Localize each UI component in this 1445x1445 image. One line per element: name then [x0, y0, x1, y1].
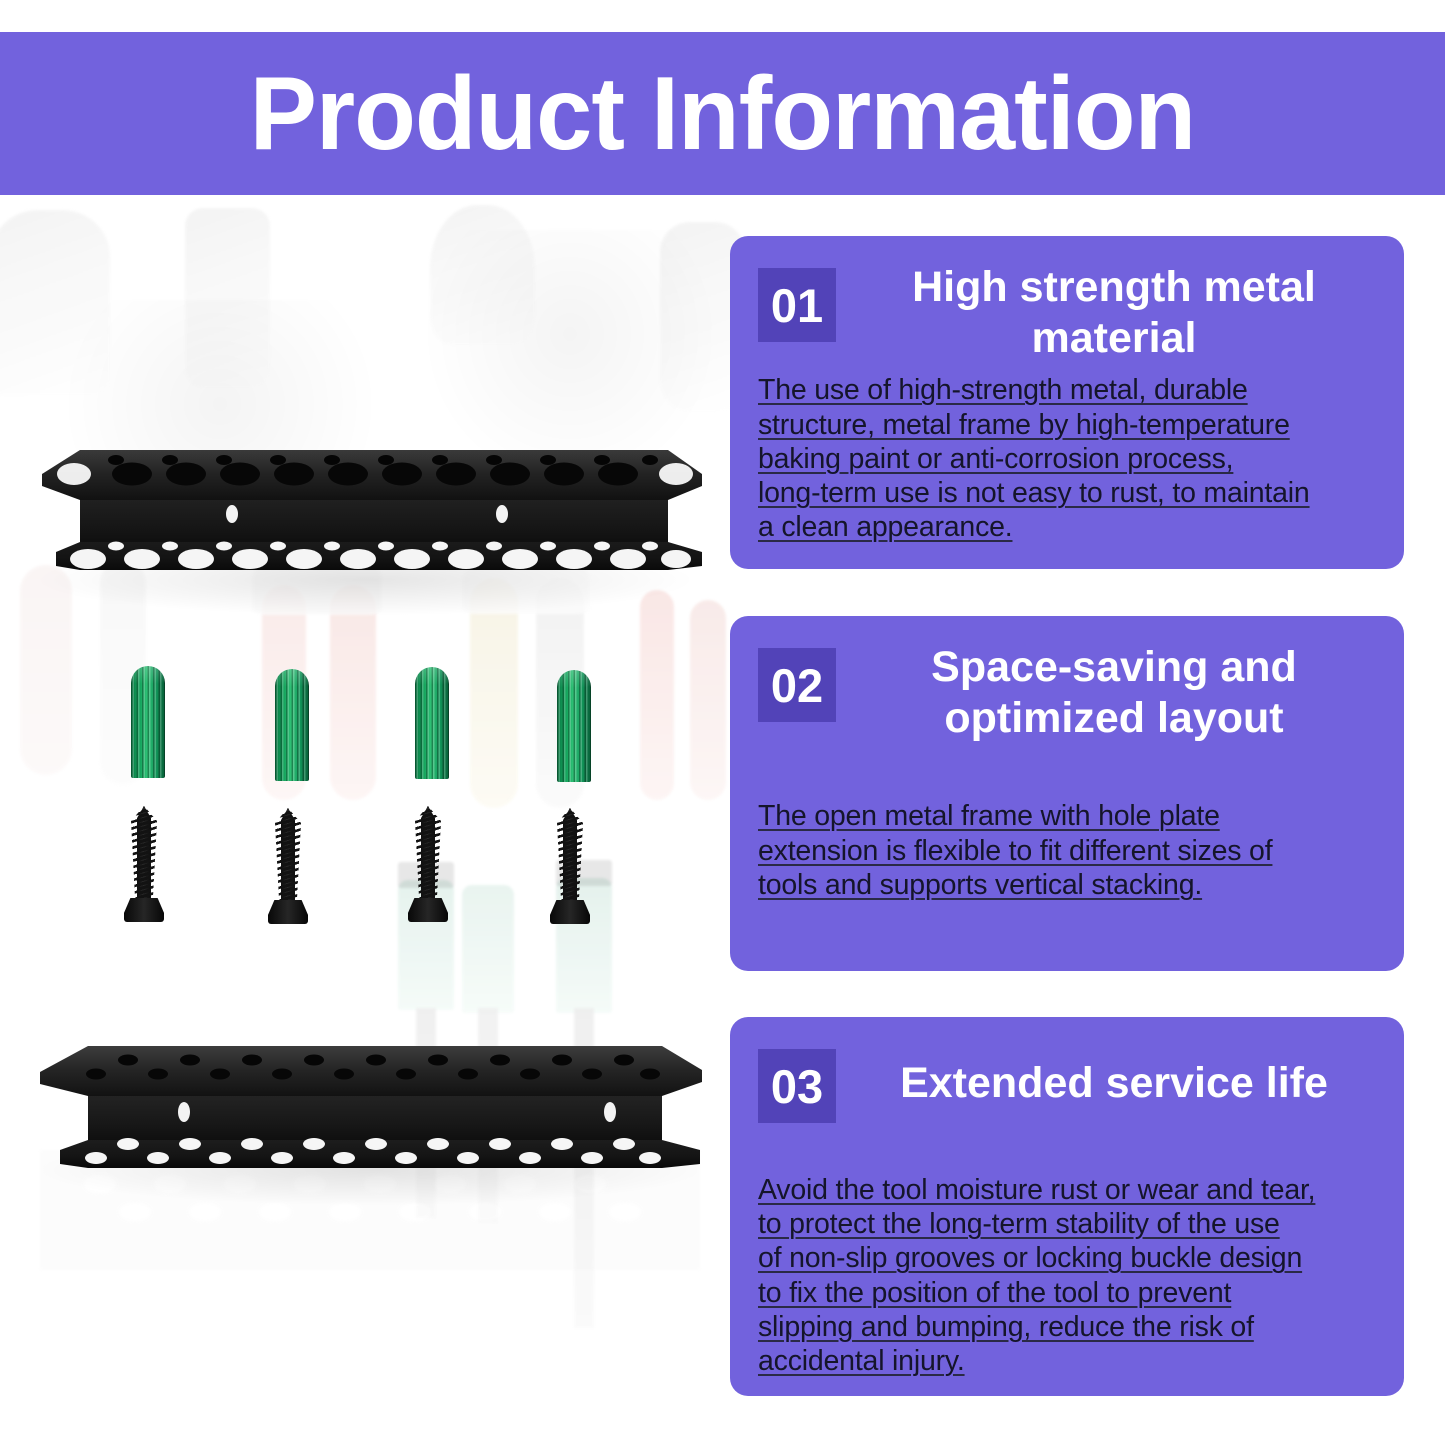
body-line: accidental injury.: [758, 1344, 1376, 1378]
badge-number: 03: [771, 1063, 823, 1110]
badge-03: 03: [758, 1049, 836, 1123]
feature-card-02: 02 Space-saving and optimized layout The…: [730, 616, 1404, 971]
page-title: Product Information: [250, 62, 1196, 166]
card-body: The use of high-strength metal, durable …: [758, 373, 1376, 544]
body-line: to protect the long-term stability of th…: [758, 1207, 1376, 1241]
wall-anchor: [415, 667, 449, 779]
badge-01: 01: [758, 268, 836, 342]
body-line: baking paint or anti-corrosion process,: [758, 442, 1376, 476]
card-header: 03 Extended service life: [758, 1043, 1376, 1123]
badge-number: 02: [771, 662, 823, 709]
body-line: tools and supports vertical stacking.: [758, 868, 1376, 902]
product-information-infographic: Product Information: [0, 0, 1445, 1445]
card-header: 01 High strength metal material: [758, 262, 1376, 363]
body-line: structure, metal frame by high-temperatu…: [758, 408, 1376, 442]
mounting-screw: [550, 808, 590, 924]
body-line: Avoid the tool moisture rust or wear and…: [758, 1173, 1376, 1207]
card-title: High strength metal material: [858, 262, 1376, 363]
mounting-screw: [408, 806, 448, 922]
card-title: Space-saving and optimized layout: [858, 642, 1376, 743]
mounting-screw: [268, 808, 308, 924]
body-line: of non-slip grooves or locking buckle de…: [758, 1241, 1376, 1275]
body-line: a clean appearance.: [758, 510, 1376, 544]
header-band: Product Information: [0, 32, 1445, 195]
card-header: 02 Space-saving and optimized layout: [758, 642, 1376, 743]
tool-rack-lower: [36, 1030, 706, 1170]
body-line: extension is flexible to fit different s…: [758, 834, 1376, 868]
body-line: slipping and bumping, reduce the risk of: [758, 1310, 1376, 1344]
card-body: The open metal frame with hole plate ext…: [758, 799, 1376, 902]
card-body: Avoid the tool moisture rust or wear and…: [758, 1173, 1376, 1378]
mounting-screw: [124, 806, 164, 922]
feature-card-01: 01 High strength metal material The use …: [730, 236, 1404, 569]
feature-card-list: 01 High strength metal material The use …: [730, 236, 1404, 1396]
badge-02: 02: [758, 648, 836, 722]
body-line: The use of high-strength metal, durable: [758, 373, 1376, 407]
wall-anchor: [557, 670, 591, 782]
body-line: long-term use is not easy to rust, to ma…: [758, 476, 1376, 510]
badge-number: 01: [771, 282, 823, 329]
body-line: The open metal frame with hole plate: [758, 799, 1376, 833]
tool-rack-upper: [36, 438, 706, 573]
card-title: Extended service life: [858, 1058, 1376, 1109]
body-line: to fix the position of the tool to preve…: [758, 1276, 1376, 1310]
wall-anchor: [131, 666, 165, 778]
feature-card-03: 03 Extended service life Avoid the tool …: [730, 1017, 1404, 1396]
wall-anchor: [275, 669, 309, 781]
